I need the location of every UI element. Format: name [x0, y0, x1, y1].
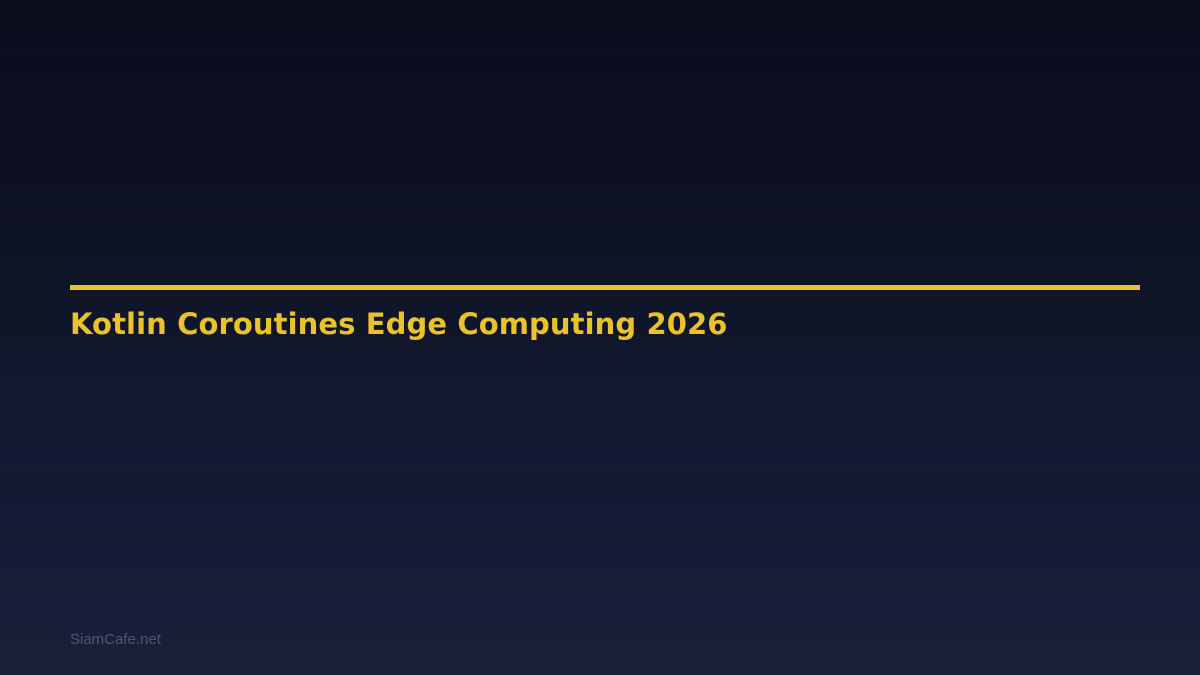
slide-title: Kotlin Coroutines Edge Computing 2026	[70, 305, 728, 343]
title-accent-bar	[70, 285, 1140, 290]
presentation-slide: Kotlin Coroutines Edge Computing 2026 Si…	[0, 0, 1200, 675]
footer-brand-label: SiamCafe.net	[70, 630, 161, 650]
